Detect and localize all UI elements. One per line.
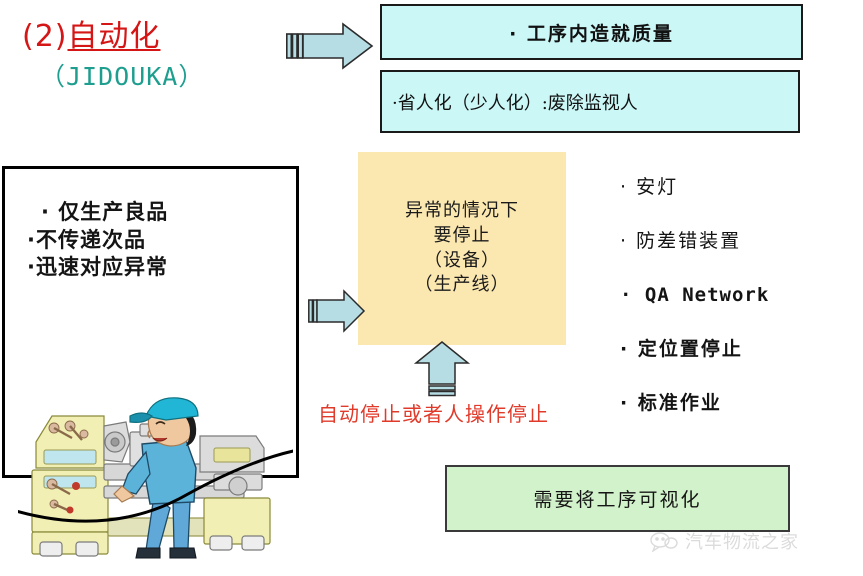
watermark: 汽车物流之家 xyxy=(648,528,799,554)
quality-in-process-label: · 工序内造就质量 xyxy=(509,19,674,46)
jidouka-tools-list: · 安灯 · 防差错装置 · QA Network · 定位置停止 · 标准作业 xyxy=(620,160,850,430)
list-item-andon: · 安灯 xyxy=(620,160,850,214)
list-item-fixed-position-stop: · 定位置停止 xyxy=(620,322,850,376)
list-item: · 仅生产良品 xyxy=(27,199,287,227)
good-parts-only-list: · 仅生产良品 ·不传递次品 ·迅速对应异常 xyxy=(27,199,287,282)
worker-at-lathe-illustration xyxy=(18,390,293,565)
list-item-standard-work: · 标准作业 xyxy=(620,376,850,430)
auto-or-manual-stop-caption: 自动停止或者人操作停止 xyxy=(318,398,549,427)
title-number: (2) xyxy=(22,19,68,54)
up-arrow-icon xyxy=(413,340,471,398)
right-arrow-icon xyxy=(286,22,374,70)
stop-line-2: 要停止 xyxy=(434,224,491,249)
page-title: (2)自动化 （JIDOUKA） xyxy=(22,20,282,93)
title-main-line: (2)自动化 xyxy=(22,20,282,53)
manpower-saving-label: ·省人化（少人化）:废除监视人 xyxy=(392,89,638,115)
visualize-process-label: 需要将工序可视化 xyxy=(533,485,701,512)
visualize-process-box: 需要将工序可视化 xyxy=(445,465,790,532)
list-item-pokayoke: · 防差错装置 xyxy=(620,214,850,268)
stop-line-1: 异常的情况下 xyxy=(405,199,519,224)
title-sub-text: （JIDOUKA） xyxy=(40,57,282,93)
list-item: ·不传递次品 xyxy=(27,227,287,255)
watermark-text: 汽车物流之家 xyxy=(685,528,799,554)
quality-in-process-box: · 工序内造就质量 xyxy=(380,4,803,60)
list-item: ·迅速对应异常 xyxy=(27,254,287,282)
chat-bubble-icon xyxy=(648,530,678,552)
title-main-text: 自动化 xyxy=(68,19,161,54)
stop-line-3: （设备） xyxy=(424,249,500,274)
right-arrow-icon xyxy=(308,288,366,334)
stop-on-abnormality-box: 异常的情况下 要停止 （设备） （生产线） xyxy=(358,152,566,345)
list-item-qa-network: · QA Network xyxy=(620,268,850,322)
manpower-saving-box: ·省人化（少人化）:废除监视人 xyxy=(380,70,800,133)
diagram-canvas: (2)自动化 （JIDOUKA） · 工序内造就质量 ·省人化（少人化）:废除监… xyxy=(0,0,863,576)
stop-line-4: （生产线） xyxy=(415,273,510,298)
